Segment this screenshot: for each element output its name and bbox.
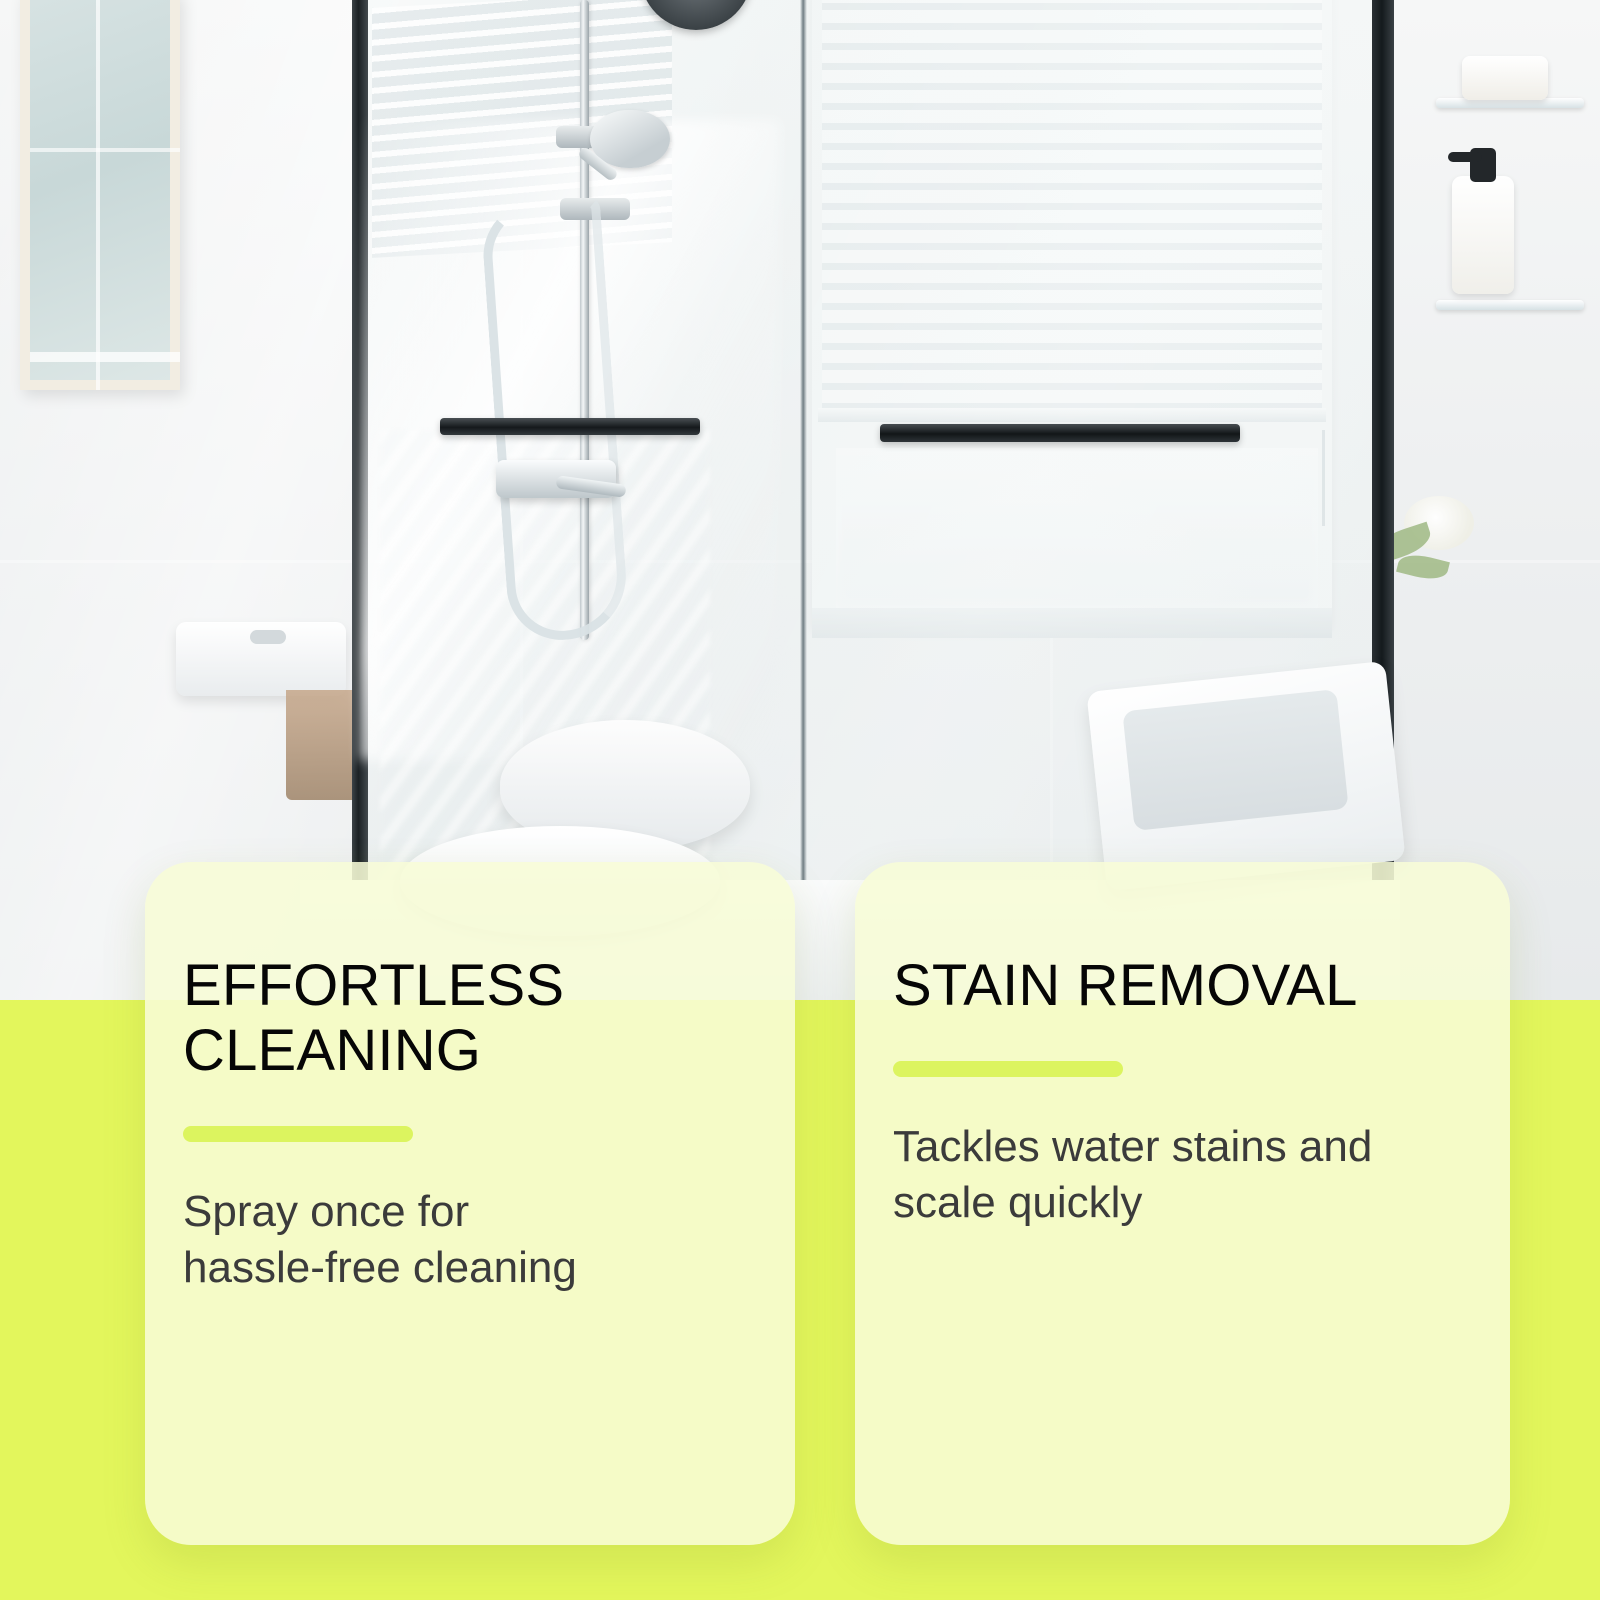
feature-card-stain-removal[interactable]: STAIN REMOVAL Tackles water stains and s…: [855, 862, 1510, 1545]
feature-card-title: STAIN REMOVAL: [893, 954, 1464, 1019]
accent-divider-bar: [183, 1126, 413, 1142]
feature-card-effortless-cleaning[interactable]: EFFORTLESS CLEANING Spray once for hassl…: [145, 862, 795, 1545]
feature-card-description: Spray once for hassle-free cleaning: [183, 1184, 749, 1297]
feature-card-description: Tackles water stains and scale quickly: [893, 1119, 1464, 1232]
accent-divider-bar: [893, 1061, 1123, 1077]
promo-banner: EFFORTLESS CLEANING Spray once for hassl…: [0, 0, 1600, 1600]
feature-card-list: EFFORTLESS CLEANING Spray once for hassl…: [0, 0, 1600, 1600]
feature-card-title: EFFORTLESS CLEANING: [183, 954, 749, 1084]
